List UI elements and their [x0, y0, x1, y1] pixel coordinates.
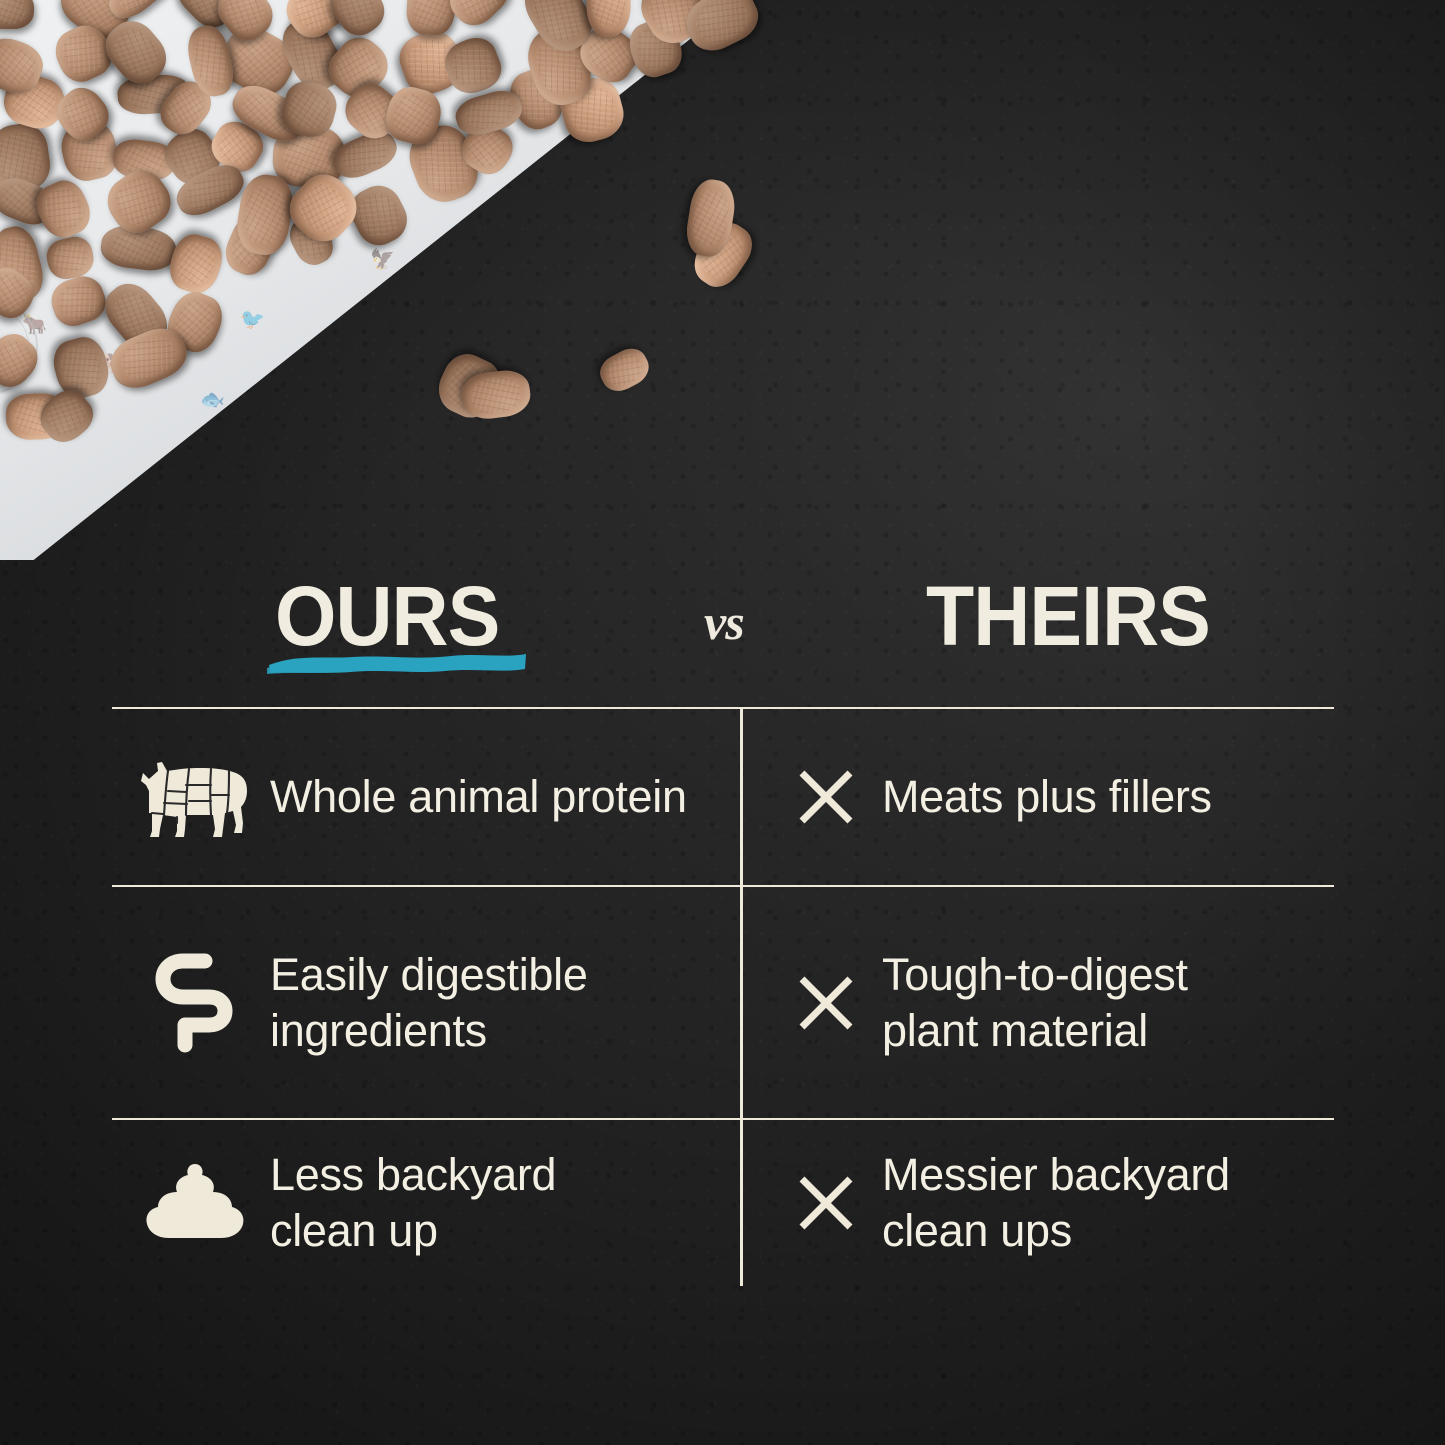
- turkey-silhouette-icon: 🦅: [370, 250, 395, 270]
- row-theirs-cell: Meats plus fillers: [740, 709, 1334, 885]
- heading-vs: vs: [704, 593, 744, 651]
- infographic-canvas: 🐂 🐕 🐦 🦅 🐟 🐦 🐂 🦅 🐦 🐕 🐟 🦅 🐦 🐂: [0, 0, 1445, 1445]
- cow-silhouette-icon: 🐂: [300, 390, 325, 410]
- table-row: Less backyard clean up Messier backyard …: [112, 1118, 1334, 1286]
- kibble-piece: [678, 0, 766, 59]
- row-ours-cell: Whole animal protein: [112, 709, 740, 885]
- comparison-headings: OURS vs THEIRS: [112, 560, 1334, 707]
- row-ours-cell: Easily digestible ingredients: [112, 887, 740, 1118]
- heading-ours: OURS: [275, 574, 499, 658]
- comparison-grid: Whole animal protein Meats plus fillers: [112, 707, 1334, 1286]
- product-photo: 🐂 🐕 🐦 🦅 🐟 🐦 🐂 🦅 🐦 🐕 🐟 🦅 🐦 🐂: [0, 0, 830, 560]
- row-ours-cell: Less backyard clean up: [112, 1120, 740, 1286]
- ours-label: Whole animal protein: [270, 769, 687, 825]
- ours-label: Less backyard clean up: [270, 1147, 630, 1259]
- row-theirs-cell: Messier backyard clean ups: [740, 1120, 1334, 1286]
- dog-silhouette-icon: 🐕: [500, 220, 525, 240]
- theirs-label: Tough-to-digest plant material: [882, 947, 1262, 1059]
- ours-label: Easily digestible ingredients: [270, 947, 700, 1059]
- table-row: Easily digestible ingredients Tough-to-d…: [112, 885, 1334, 1118]
- bird-silhouette-icon: 🐦: [700, 90, 725, 110]
- poop-icon: [120, 1160, 270, 1246]
- kibble-piece: [594, 343, 654, 398]
- table-row: Whole animal protein Meats plus fillers: [112, 709, 1334, 885]
- row-theirs-cell: Tough-to-digest plant material: [740, 887, 1334, 1118]
- theirs-label: Meats plus fillers: [882, 769, 1212, 825]
- cow-butcher-chart-icon: [120, 751, 270, 843]
- x-mark-icon: [770, 765, 882, 829]
- heading-theirs: THEIRS: [926, 574, 1210, 658]
- bird-silhouette-icon: 🐦: [240, 310, 265, 330]
- comparison-table: OURS vs THEIRS: [112, 560, 1334, 1286]
- intestine-icon: [120, 951, 270, 1055]
- theirs-label: Messier backyard clean ups: [882, 1147, 1282, 1259]
- fish-silhouette-icon: 🐟: [200, 390, 225, 410]
- x-mark-icon: [770, 1171, 882, 1235]
- x-mark-icon: [770, 971, 882, 1035]
